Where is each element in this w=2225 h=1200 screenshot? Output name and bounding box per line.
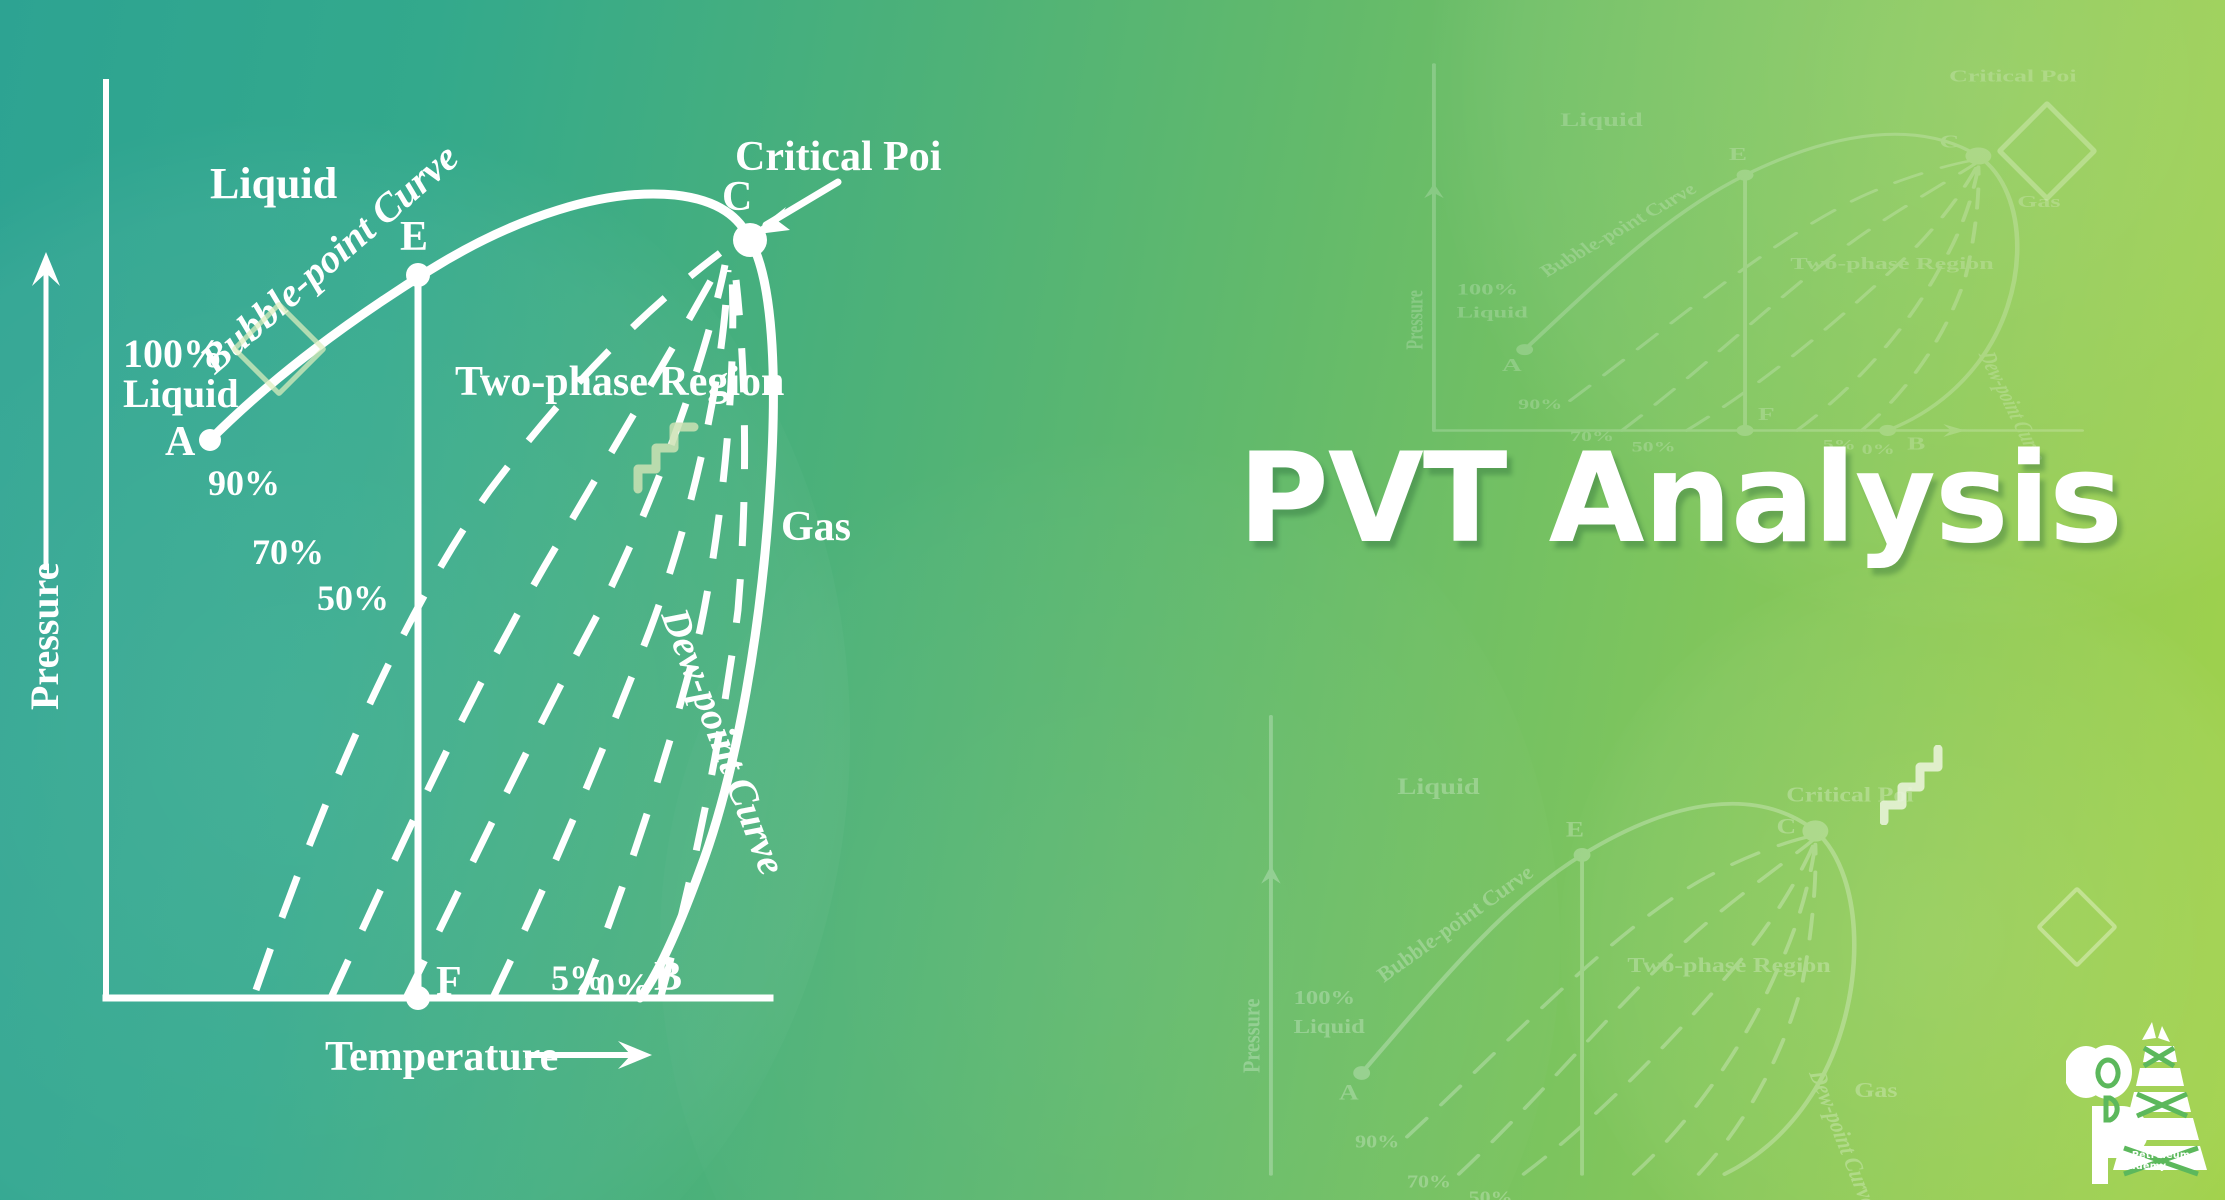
wm-tr-point-f: F: [1758, 404, 1775, 424]
wm-tr-liquid2-label: Liquid: [1457, 303, 1529, 322]
quality-label-90: 90%: [208, 463, 280, 503]
wm-tr-critical-label: Critical Poi: [1949, 66, 2076, 85]
wm-tr-100-label: 100%: [1457, 280, 1519, 299]
region-label-gas: Gas: [781, 504, 851, 550]
wm-br-ylabel: Pressure: [1237, 999, 1264, 1073]
point-label-A: A: [165, 419, 196, 465]
wm-br-liquid2-label: Liquid: [1294, 1015, 1366, 1037]
wm-tr-twophase-label: Two-phase Region: [1790, 253, 1993, 272]
axes: [106, 82, 770, 998]
region-label-liquid: Liquid: [210, 159, 337, 208]
decor-steps-center: [632, 403, 704, 495]
decor-diamond-bottomright: [2036, 886, 2118, 968]
point-A-marker: [199, 429, 221, 451]
quality-label-70: 70%: [252, 532, 324, 572]
wm-br-twophase-label: Two-phase Region: [1627, 954, 1830, 977]
wm-br-gas-label: Gas: [1854, 1079, 1897, 1102]
wm-br-q50: 50%: [1469, 1188, 1513, 1200]
pvt-phase-diagram: Pressure Temperature: [60, 70, 1160, 1080]
wm-tr-point-a: A: [1502, 355, 1522, 375]
pressure-axis-arrow: [32, 252, 60, 570]
wm-br-point-a: A: [1339, 1081, 1359, 1105]
logo-caption: Online Petroleum Academy: [2066, 1150, 2216, 1172]
wm-br-point-c: C: [1776, 815, 1796, 839]
point-label-F: F: [436, 959, 462, 1005]
region-label-two-phase: Two-phase Region: [455, 359, 784, 405]
temperature-axis-label: Temperature: [325, 1034, 558, 1080]
point-F-marker: [406, 986, 430, 1010]
watermark-diagram-top-right: Liquid 100% Liquid Two-phase Region Gas …: [1408, 56, 2108, 456]
decor-steps-bottomright: [1880, 745, 1950, 825]
wm-br-q90: 90%: [1355, 1132, 1399, 1152]
point-label-B: B: [654, 954, 682, 1000]
wm-br-point-e: E: [1566, 817, 1584, 841]
quality-label-0: 0%: [597, 966, 651, 1006]
pvt-banner: Liquid 100% Liquid Two-phase Region Gas …: [0, 0, 2225, 1200]
wm-tr-q90: 90%: [1518, 397, 1562, 413]
wm-tr-liquid-label: Liquid: [1560, 111, 1643, 131]
point-label-C: C: [722, 174, 752, 220]
quality-label-50: 50%: [317, 578, 389, 618]
wm-br-liquid-label: Liquid: [1397, 773, 1480, 799]
wm-br-100-label: 100%: [1294, 986, 1356, 1008]
watermark-diagram-bottom-right: Liquid 100% Liquid Two-phase Region Gas …: [1245, 706, 1945, 1200]
wm-br-q70: 70%: [1407, 1172, 1451, 1192]
wm-tr-ylabel: Pressure: [1400, 290, 1428, 350]
critical-point-arrow: [750, 182, 838, 235]
critical-point-callout-label: Critical Poi: [735, 134, 942, 180]
dew-point-curve-label: Dew-point Curve: [652, 601, 795, 881]
page-title: PVT Analysis: [1238, 427, 2122, 571]
pressure-axis-label: Pressure: [22, 563, 67, 710]
point-E-marker: [406, 263, 430, 287]
wm-tr-point-e: E: [1729, 144, 1747, 164]
